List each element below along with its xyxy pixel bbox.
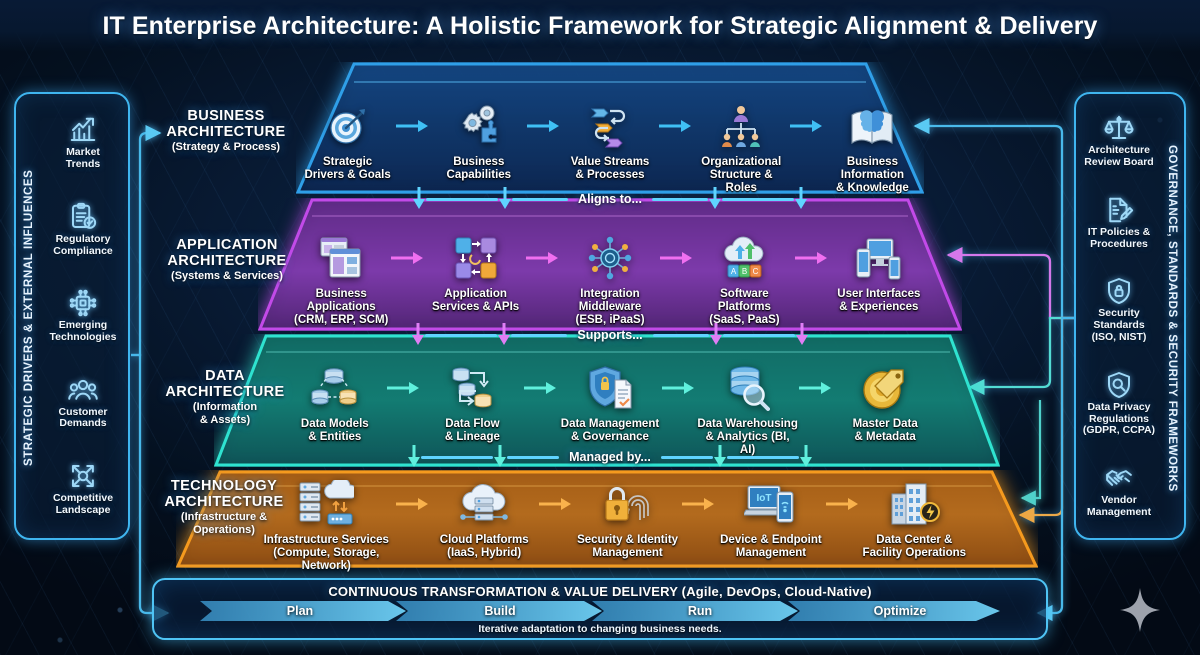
stage-label-run[interactable]: Run	[600, 604, 800, 618]
svg-text:A: A	[731, 267, 737, 276]
node-software-platforms[interactable]: A B C Software Platforms(SaaS, PaaS)	[695, 232, 793, 328]
down-arrow-icon	[412, 187, 426, 211]
flow-arrow-icon	[681, 478, 717, 530]
layer-label-business: BUSINESS ARCHITECTURE (Strategy & Proces…	[158, 108, 294, 154]
connector-line	[425, 334, 497, 337]
sidebar-item-label: CompetitiveLandscape	[53, 493, 113, 517]
node-label: Device & EndpointManagement	[720, 534, 822, 560]
flow-arrow-icon	[798, 362, 834, 414]
node-label: Infrastructure Services(Compute, Storage…	[258, 534, 395, 574]
sidebar-item-competitive-landscape[interactable]: CompetitiveLandscape	[37, 461, 129, 517]
down-arrow-icon	[498, 187, 512, 211]
node-label: User Interfaces& Experiences	[837, 288, 920, 314]
competitive-network-icon	[66, 461, 100, 491]
down-arrow-icon	[493, 445, 507, 469]
node-label: Data Center &Facility Operations	[863, 534, 967, 560]
flow-arrow-icon	[526, 100, 562, 152]
sidebar-item-data-privacy-regulations[interactable]: Data PrivacyRegulations(GDPR, CCPA)	[1073, 370, 1165, 437]
left-sidebar-panel[interactable]: STRATEGIC DRIVERS & EXTERNAL INFLUENCES …	[14, 92, 130, 540]
node-organizational-structure-roles[interactable]: OrganizationalStructure & Roles	[694, 100, 789, 196]
svg-text:IoT: IoT	[756, 493, 771, 504]
padlock-fingerprint-icon	[602, 478, 654, 530]
stage-label-build[interactable]: Build	[400, 604, 600, 618]
left-sidebar-items: MarketTrends RegulatoryCompliance Emergi…	[40, 100, 126, 532]
flow-arrow-icon	[395, 100, 431, 152]
api-services-icon	[453, 232, 499, 284]
flow-arrow-icon	[386, 362, 422, 414]
bar-chart-trend-icon	[66, 115, 100, 145]
connector-line	[652, 198, 708, 201]
database-magnifier-icon	[724, 362, 772, 414]
target-dart-icon	[326, 100, 370, 152]
page-title: IT Enterprise Architecture: A Holistic F…	[102, 12, 1097, 41]
layer-subtitle: (Systems & Services)	[156, 270, 298, 283]
layer-nodes-application: Business Applications(CRM, ERP, SCM)	[292, 232, 928, 328]
layer-subtitle: (Strategy & Process)	[158, 141, 294, 154]
node-data-center-facility-operations[interactable]: Data Center &Facility Operations	[861, 478, 968, 560]
value-stream-flow-icon	[586, 100, 634, 152]
connector-business-to-application: Aligns to...	[330, 186, 890, 212]
node-user-interfaces-experiences[interactable]: User Interfaces& Experiences	[830, 232, 928, 314]
connector-line	[512, 198, 568, 201]
sidebar-item-label: ArchitectureReview Board	[1084, 145, 1153, 169]
stage-label-plan[interactable]: Plan	[200, 604, 400, 618]
node-label: Value Streams& Processes	[571, 156, 650, 182]
cloud-server-icon	[457, 478, 511, 530]
node-label: Data Models& Entities	[301, 418, 369, 444]
shield-lock-icon	[1102, 276, 1136, 306]
connector-label: Aligns to...	[568, 192, 652, 206]
connector-data-to-technology: Managed by...	[330, 444, 890, 470]
connector-line	[722, 198, 794, 201]
sidebar-item-emerging-technologies[interactable]: EmergingTechnologies	[37, 288, 129, 344]
bottom-bar-subtitle: Iterative adaptation to changing busines…	[478, 623, 721, 635]
flow-arrow-icon	[794, 232, 830, 284]
node-data-models-entities[interactable]: Data Models& Entities	[284, 362, 386, 444]
node-label: StrategicDrivers & Goals	[304, 156, 390, 182]
layer-nodes-technology: Infrastructure Services(Compute, Storage…	[258, 478, 968, 574]
data-flow-icon	[448, 362, 496, 414]
cloud-apps-icon: A B C	[719, 232, 769, 284]
users-group-icon	[66, 375, 100, 405]
layer-title-line2: ARCHITECTURE	[156, 253, 298, 269]
layer-label-data: DATA ARCHITECTURE (Information& Assets)	[152, 368, 298, 427]
gears-puzzle-icon	[456, 100, 502, 152]
node-master-data-metadata[interactable]: Master Data& Metadata	[834, 362, 936, 444]
master-data-tag-icon	[861, 362, 909, 414]
flow-arrow-icon	[658, 100, 694, 152]
node-label: Master Data& Metadata	[853, 418, 918, 444]
connector-line	[653, 334, 709, 337]
right-sidebar-panel[interactable]: GOVERNANCE, STANDARDS & SECURITY FRAMEWO…	[1074, 92, 1186, 540]
sidebar-item-it-policies-procedures[interactable]: IT Policies &Procedures	[1073, 195, 1165, 251]
connector-line	[727, 456, 799, 459]
node-label: Security & IdentityManagement	[577, 534, 678, 560]
document-pencil-icon	[1102, 195, 1136, 225]
handshake-icon	[1102, 463, 1136, 493]
node-data-management-governance[interactable]: Data Management& Governance	[559, 362, 661, 444]
connector-line	[426, 198, 498, 201]
sidebar-item-label: CustomerDemands	[58, 407, 107, 431]
delivery-stage-chevrons: Plan Build Run Optimize	[200, 600, 1000, 622]
microchip-icon	[66, 288, 100, 318]
down-arrow-icon	[411, 323, 425, 347]
app-windows-icon	[317, 232, 365, 284]
layer-title-line1: APPLICATION	[156, 237, 298, 253]
shield-magnifier-icon	[1102, 370, 1136, 400]
connector-label: Managed by...	[559, 450, 661, 464]
node-cloud-platforms[interactable]: Cloud Platforms(IaaS, Hybrid)	[431, 478, 538, 560]
connector-line	[507, 456, 559, 459]
connector-line	[661, 456, 713, 459]
flow-arrow-icon	[789, 100, 825, 152]
connector-label: Supports...	[567, 328, 652, 342]
layer-title-line2: ARCHITECTURE	[158, 124, 294, 140]
chevron-labels: Plan Build Run Optimize	[200, 600, 1000, 622]
node-security-identity-management[interactable]: Security & IdentityManagement	[574, 478, 681, 560]
shield-document-icon	[586, 362, 634, 414]
flow-arrow-icon	[395, 478, 431, 530]
sidebar-item-security-standards[interactable]: SecurityStandards(ISO, NIST)	[1073, 276, 1165, 343]
sidebar-item-vendor-management[interactable]: VendorManagement	[1073, 463, 1165, 519]
sidebar-item-customer-demands[interactable]: CustomerDemands	[37, 375, 129, 431]
four-point-star-icon	[1118, 586, 1162, 634]
connector-line	[421, 456, 493, 459]
node-business-capabilities[interactable]: BusinessCapabilities	[431, 100, 526, 182]
node-device-endpoint-management[interactable]: IoT Device & EndpointManagement	[717, 478, 824, 560]
down-arrow-icon	[799, 445, 813, 469]
sidebar-item-label: VendorManagement	[1087, 495, 1151, 519]
server-cloud-icon	[298, 478, 354, 530]
down-arrow-icon	[497, 323, 511, 347]
node-label: Data Management& Governance	[561, 418, 659, 444]
connector-line	[511, 334, 567, 337]
right-sidebar-items: ArchitectureReview Board IT Policies &Pr…	[1078, 100, 1160, 532]
sidebar-item-market-trends[interactable]: MarketTrends	[37, 115, 129, 171]
node-label: BusinessCapabilities	[447, 156, 512, 182]
sidebar-item-label: Data PrivacyRegulations(GDPR, CCPA)	[1083, 402, 1155, 437]
sidebar-item-label: RegulatoryCompliance	[53, 234, 113, 258]
connector-line	[723, 334, 795, 337]
flow-arrow-icon	[661, 362, 697, 414]
down-arrow-icon	[713, 445, 727, 469]
node-strategic-drivers-goals[interactable]: StrategicDrivers & Goals	[300, 100, 395, 182]
layer-nodes-business: StrategicDrivers & Goals BusinessCapabil…	[300, 100, 920, 196]
flow-arrow-icon	[659, 232, 695, 284]
iot-devices-icon: IoT	[744, 478, 798, 530]
database-entities-icon	[310, 362, 360, 414]
layer-label-application: APPLICATION ARCHITECTURE (Systems & Serv…	[156, 237, 298, 283]
node-value-streams-processes[interactable]: Value Streams& Processes	[562, 100, 657, 182]
sidebar-item-architecture-review-board[interactable]: ArchitectureReview Board	[1073, 113, 1165, 169]
node-data-flow-lineage[interactable]: Data Flow& Lineage	[422, 362, 524, 444]
node-label: Data Flow& Lineage	[445, 418, 500, 444]
connector-application-to-data: Supports...	[330, 322, 890, 348]
down-arrow-icon	[795, 323, 809, 347]
node-application-services-apis[interactable]: ApplicationServices & APIs	[426, 232, 524, 314]
diagram-title-bar: IT Enterprise Architecture: A Holistic F…	[0, 0, 1200, 52]
org-chart-icon	[718, 100, 764, 152]
down-arrow-icon	[709, 323, 723, 347]
flow-arrow-icon	[825, 478, 861, 530]
datacenter-bolt-icon	[888, 478, 940, 530]
scales-balance-icon	[1102, 113, 1136, 143]
node-label: Cloud Platforms(IaaS, Hybrid)	[440, 534, 529, 560]
layer-subtitle: (Information& Assets)	[152, 401, 298, 426]
devices-ui-icon	[855, 232, 903, 284]
bottom-bar-title: CONTINUOUS TRANSFORMATION & VALUE DELIVE…	[328, 584, 871, 599]
flow-arrow-icon	[525, 232, 561, 284]
flow-arrow-icon	[390, 232, 426, 284]
sidebar-item-regulatory-compliance[interactable]: RegulatoryCompliance	[37, 202, 129, 258]
flow-arrow-icon	[523, 362, 559, 414]
layer-title-line2: ARCHITECTURE	[152, 384, 298, 400]
svg-text:B: B	[742, 267, 747, 276]
clipboard-check-icon	[66, 202, 100, 232]
layer-title-line1: BUSINESS	[158, 108, 294, 124]
continuous-transformation-bar[interactable]: CONTINUOUS TRANSFORMATION & VALUE DELIVE…	[152, 578, 1048, 640]
down-arrow-icon	[407, 445, 421, 469]
diagram-canvas: IT Enterprise Architecture: A Holistic F…	[0, 0, 1200, 655]
down-arrow-icon	[708, 187, 722, 211]
node-integration-middleware[interactable]: Integration Middleware(ESB, iPaaS)	[561, 232, 659, 328]
sidebar-item-label: MarketTrends	[66, 147, 100, 171]
node-business-information-knowledge[interactable]: Business Information& Knowledge	[825, 100, 920, 196]
svg-text:C: C	[753, 267, 759, 276]
integration-hub-icon	[586, 232, 634, 284]
sidebar-item-label: IT Policies &Procedures	[1088, 227, 1150, 251]
flow-arrow-icon	[538, 478, 574, 530]
layer-title-line1: DATA	[152, 368, 298, 384]
sidebar-item-label: SecurityStandards(ISO, NIST)	[1092, 308, 1147, 343]
sidebar-item-label: EmergingTechnologies	[50, 320, 117, 344]
down-arrow-icon	[794, 187, 808, 211]
node-label: ApplicationServices & APIs	[432, 288, 519, 314]
node-business-applications[interactable]: Business Applications(CRM, ERP, SCM)	[292, 232, 390, 328]
stage-label-optimize[interactable]: Optimize	[800, 604, 1000, 618]
brain-book-icon	[848, 100, 896, 152]
node-infrastructure-services[interactable]: Infrastructure Services(Compute, Storage…	[258, 478, 395, 574]
